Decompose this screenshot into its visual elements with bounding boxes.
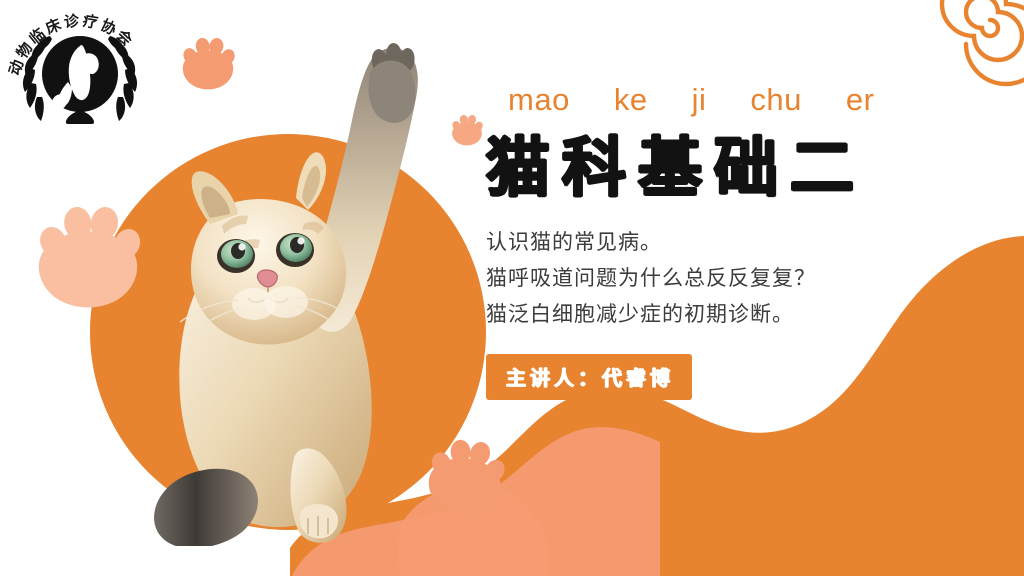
title-text-column: mao ke ji chu er 猫科基础二 认识猫的常见病。 猫呼吸道问题为什… [486, 84, 1006, 400]
kitten-photo [118, 18, 458, 546]
subtitle-block: 认识猫的常见病。 猫呼吸道问题为什么总反反复复？ 猫泛白细胞减少症的初期诊断。 [486, 225, 1006, 333]
pinyin-row: mao ke ji chu er [486, 84, 1006, 120]
pinyin-syllable-5: er [846, 84, 875, 115]
pinyin-syllable-2: ke [614, 84, 648, 115]
pinyin-syllable-4: chu [750, 84, 801, 115]
association-logo: 动物临床诊疗协会 [6, 2, 154, 124]
page-title: 猫科基础二 [486, 136, 1006, 203]
spiral-swirl-icon [942, 0, 1024, 84]
pinyin-syllable-1: mao [508, 84, 570, 115]
subtitle-line-3: 猫泛白细胞减少症的初期诊断。 [486, 297, 1006, 333]
subtitle-line-2: 猫呼吸道问题为什么总反反复复？ [486, 261, 1006, 297]
subtitle-line-1: 认识猫的常见病。 [486, 225, 1006, 261]
speaker-badge: 主讲人：代睿博 [486, 354, 692, 400]
pinyin-syllable-3: ji [692, 84, 707, 115]
presentation-slide: 动物临床诊疗协会 [0, 0, 1024, 576]
